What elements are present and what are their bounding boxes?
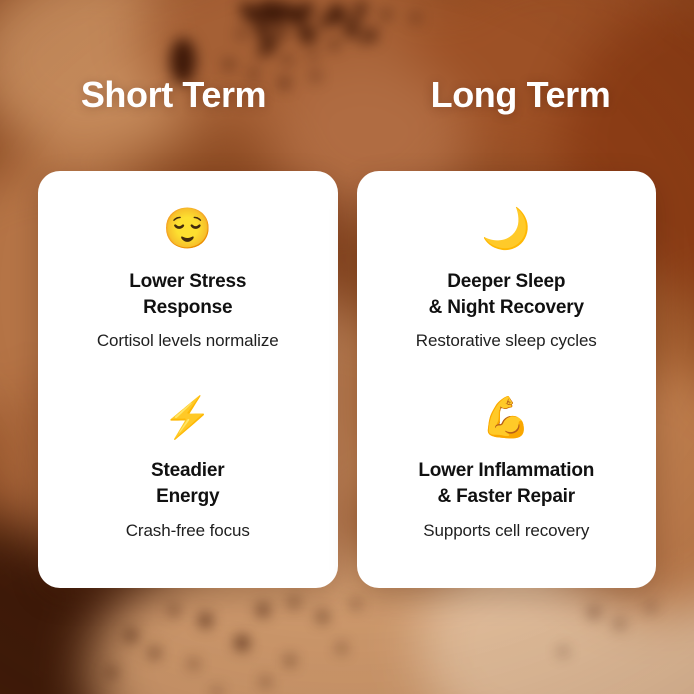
high-voltage-icon: ⚡	[163, 392, 213, 444]
benefit-title: Steadier Energy	[151, 458, 224, 509]
header-long-term: Long Term	[347, 0, 694, 171]
benefit-steadier-energy: ⚡ Steadier Energy Crash-free focus	[56, 392, 320, 541]
infographic-stage: Short Term Long Term 😌 Lower Stress Resp…	[0, 0, 694, 694]
header-short-term-label: Short Term	[81, 74, 266, 116]
benefit-subtitle: Crash-free focus	[126, 520, 250, 542]
benefit-title: Deeper Sleep & Night Recovery	[429, 269, 584, 320]
crescent-moon-icon: 🌙	[481, 203, 531, 255]
benefit-lower-stress: 😌 Lower Stress Response Cortisol levels …	[56, 203, 320, 352]
short-term-card: 😌 Lower Stress Response Cortisol levels …	[38, 171, 338, 588]
long-term-card: 🌙 Deeper Sleep & Night Recovery Restorat…	[357, 171, 657, 588]
header-long-term-label: Long Term	[431, 74, 611, 116]
column-headers: Short Term Long Term	[0, 0, 694, 171]
flexed-biceps-icon: 💪	[481, 392, 531, 444]
benefit-subtitle: Cortisol levels normalize	[97, 330, 279, 352]
benefit-title: Lower Stress Response	[129, 269, 246, 320]
benefit-cards: 😌 Lower Stress Response Cortisol levels …	[38, 171, 656, 588]
relieved-face-icon: 😌	[163, 203, 213, 255]
benefit-lower-inflammation: 💪 Lower Inflammation & Faster Repair Sup…	[375, 392, 639, 541]
benefit-title: Lower Inflammation & Faster Repair	[418, 458, 594, 509]
header-short-term: Short Term	[0, 0, 347, 171]
benefit-subtitle: Supports cell recovery	[423, 520, 589, 542]
benefit-subtitle: Restorative sleep cycles	[416, 330, 597, 352]
benefit-deeper-sleep: 🌙 Deeper Sleep & Night Recovery Restorat…	[375, 203, 639, 352]
